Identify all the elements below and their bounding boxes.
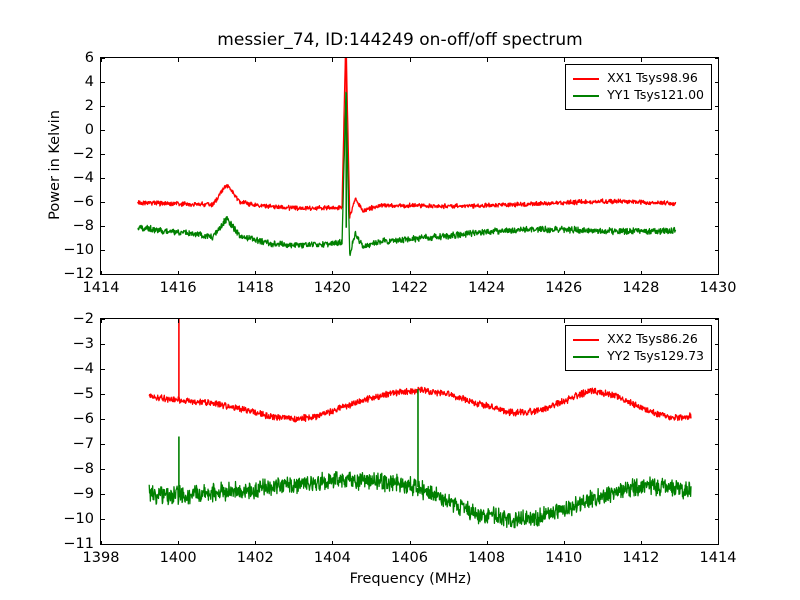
y-tick-mark — [715, 369, 719, 370]
y-tick-label: 4 — [85, 74, 94, 90]
y-tick-label: −4 — [73, 170, 94, 186]
x-tick-mark — [332, 319, 333, 323]
x-tick-mark — [641, 319, 642, 323]
x-tick-label: 1412 — [622, 550, 659, 566]
y-tick-mark — [715, 130, 719, 131]
x-tick-mark — [255, 319, 256, 323]
x-tick-mark — [101, 541, 102, 545]
y-tick-mark — [715, 419, 719, 420]
legend-label: XX1 Tsys98.96 — [607, 72, 698, 85]
x-tick-mark — [178, 541, 179, 545]
x-tick-mark — [332, 271, 333, 275]
legend-line-icon — [573, 356, 599, 358]
y-tick-mark — [715, 106, 719, 107]
y-tick-mark — [715, 250, 719, 251]
legend-top[interactable]: XX1 Tsys98.96YY1 Tsys121.00 — [565, 64, 712, 110]
x-tick-mark — [487, 319, 488, 323]
x-tick-label: 1426 — [545, 280, 582, 296]
x-tick-mark — [487, 541, 488, 545]
y-tick-mark — [101, 82, 105, 83]
y-tick-label: 2 — [85, 98, 94, 114]
x-tick-label: 1414 — [700, 550, 737, 566]
x-tick-label: 1400 — [160, 550, 197, 566]
x-tick-mark — [718, 541, 719, 545]
x-tick-label: 1402 — [237, 550, 274, 566]
y-tick-label: −2 — [73, 311, 94, 327]
y-tick-label: −6 — [73, 194, 94, 210]
y-tick-mark — [715, 394, 719, 395]
figure-canvas: messier_74, ID:144249 on-off/off spectru… — [0, 0, 800, 600]
spectrum-panel-top: 6420−2−4−6−8−10−121414141614181420142214… — [100, 57, 719, 275]
legend-entry: XX2 Tsys86.26 — [573, 331, 704, 348]
trace-yy2 — [149, 472, 691, 528]
page-title: messier_74, ID:144249 on-off/off spectru… — [0, 30, 800, 50]
x-tick-mark — [255, 541, 256, 545]
x-tick-mark — [641, 58, 642, 62]
y-tick-label: −2 — [73, 146, 94, 162]
trace-xx2 — [149, 387, 691, 422]
y-tick-label: −7 — [73, 436, 94, 452]
x-tick-mark — [410, 319, 411, 323]
x-tick-mark — [178, 319, 179, 323]
y-tick-label: −8 — [73, 461, 94, 477]
y-tick-mark — [715, 469, 719, 470]
legend-entry: YY2 Tsys129.73 — [573, 348, 704, 365]
legend-label: YY1 Tsys121.00 — [607, 89, 704, 102]
y-tick-mark — [715, 154, 719, 155]
x-tick-mark — [178, 271, 179, 275]
legend-bottom[interactable]: XX2 Tsys86.26YY2 Tsys129.73 — [565, 325, 712, 371]
x-tick-mark — [101, 319, 102, 323]
legend-line-icon — [573, 339, 599, 341]
y-tick-mark — [101, 344, 105, 345]
y-tick-mark — [101, 394, 105, 395]
y-tick-mark — [101, 154, 105, 155]
legend-entry: XX1 Tsys98.96 — [573, 70, 704, 87]
x-tick-mark — [255, 58, 256, 62]
x-tick-mark — [564, 271, 565, 275]
x-tick-mark — [332, 58, 333, 62]
y-tick-mark — [715, 519, 719, 520]
x-tick-mark — [332, 541, 333, 545]
x-tick-label: 1428 — [622, 280, 659, 296]
y-tick-mark — [101, 369, 105, 370]
x-tick-label: 1430 — [700, 280, 737, 296]
spectrum-panel-bottom: −2−3−4−5−6−7−8−9−10−11139814001402140414… — [100, 318, 719, 545]
y-tick-mark — [715, 82, 719, 83]
y-tick-mark — [715, 178, 719, 179]
y-tick-label: −3 — [73, 336, 94, 352]
y-tick-mark — [101, 444, 105, 445]
x-tick-mark — [410, 58, 411, 62]
y-tick-mark — [715, 344, 719, 345]
y-tick-mark — [101, 178, 105, 179]
y-tick-mark — [101, 469, 105, 470]
x-tick-label: 1422 — [391, 280, 428, 296]
y-tick-mark — [101, 250, 105, 251]
y-tick-label: −10 — [63, 242, 94, 258]
x-tick-mark — [410, 271, 411, 275]
x-tick-label: 1404 — [314, 550, 351, 566]
legend-entry: YY1 Tsys121.00 — [573, 87, 704, 104]
legend-line-icon — [573, 78, 599, 80]
x-tick-label: 1406 — [391, 550, 428, 566]
y-tick-label: −4 — [73, 361, 94, 377]
x-tick-mark — [641, 271, 642, 275]
y-tick-mark — [715, 494, 719, 495]
y-tick-label: 0 — [85, 122, 94, 138]
legend-label: XX2 Tsys86.26 — [607, 333, 698, 346]
x-tick-mark — [101, 271, 102, 275]
legend-line-icon — [573, 95, 599, 97]
x-tick-label: 1410 — [545, 550, 582, 566]
y-tick-label: −9 — [73, 486, 94, 502]
x-tick-mark — [641, 541, 642, 545]
y-tick-mark — [101, 226, 105, 227]
x-tick-mark — [564, 319, 565, 323]
y-tick-mark — [715, 226, 719, 227]
x-tick-mark — [178, 58, 179, 62]
x-tick-mark — [410, 541, 411, 545]
x-tick-mark — [718, 271, 719, 275]
x-tick-mark — [487, 58, 488, 62]
x-tick-mark — [564, 58, 565, 62]
y-tick-mark — [715, 444, 719, 445]
y-tick-mark — [101, 519, 105, 520]
x-tick-mark — [718, 58, 719, 62]
x-tick-label: 1398 — [83, 550, 120, 566]
y-tick-mark — [101, 130, 105, 131]
legend-label: YY2 Tsys129.73 — [607, 350, 704, 363]
y-tick-mark — [715, 202, 719, 203]
x-tick-mark — [564, 541, 565, 545]
x-axis-label: Frequency (MHz) — [101, 571, 720, 587]
y-tick-label: −8 — [73, 218, 94, 234]
y-axis-label: Power in Kelvin — [47, 56, 63, 274]
y-tick-label: 6 — [85, 50, 94, 66]
x-tick-mark — [718, 319, 719, 323]
x-tick-label: 1418 — [237, 280, 274, 296]
y-tick-mark — [101, 202, 105, 203]
x-tick-label: 1424 — [468, 280, 505, 296]
x-tick-label: 1408 — [468, 550, 505, 566]
trace-yy1 — [138, 92, 676, 255]
y-tick-mark — [101, 494, 105, 495]
y-tick-mark — [101, 419, 105, 420]
x-tick-label: 1414 — [83, 280, 120, 296]
y-tick-label: −6 — [73, 411, 94, 427]
y-tick-label: −5 — [73, 386, 94, 402]
x-tick-mark — [255, 271, 256, 275]
x-tick-mark — [101, 58, 102, 62]
x-tick-mark — [487, 271, 488, 275]
y-tick-mark — [101, 106, 105, 107]
x-tick-label: 1420 — [314, 280, 351, 296]
y-tick-label: −10 — [63, 511, 94, 527]
x-tick-label: 1416 — [160, 280, 197, 296]
